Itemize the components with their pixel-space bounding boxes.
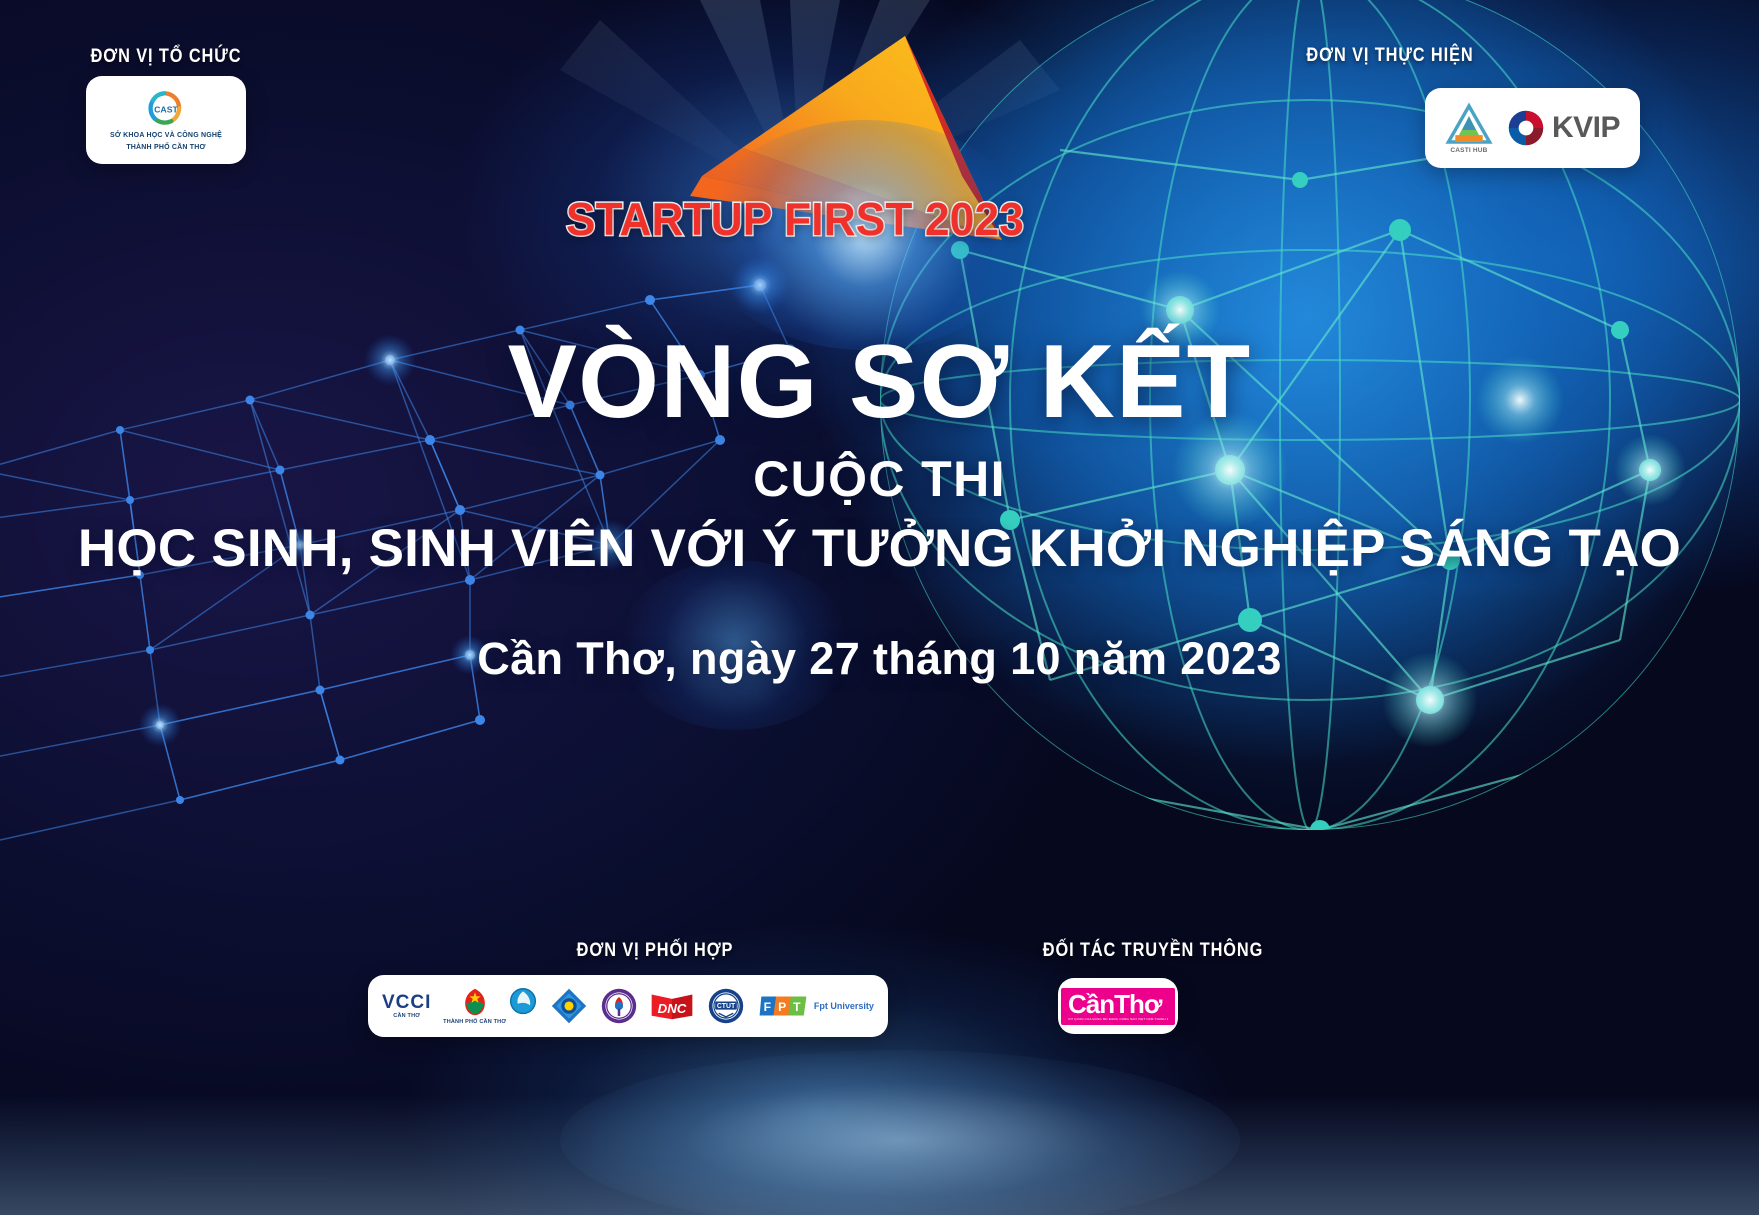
- svg-text:F: F: [764, 1000, 771, 1014]
- implementer-logo-card: CASTI HUB KVIP: [1425, 88, 1640, 168]
- doan-tncs-caption: THÀNH PHỐ CẦN THƠ: [443, 1020, 506, 1026]
- partner-logo-university-seal: [600, 987, 638, 1025]
- organizer-kicker: ĐƠN VỊ TỔ CHỨC: [63, 46, 269, 68]
- casti-hub-label: CASTI HUB: [1450, 148, 1487, 155]
- svg-text:T: T: [793, 1000, 801, 1014]
- youth-union-seal-icon: [508, 986, 538, 1018]
- kvip-logo: KVIP: [1507, 109, 1620, 147]
- subtitle-line-1: CUỘC THI: [0, 450, 1759, 508]
- partner-logo-doan-tncs: THÀNH PHỐ CẦN THƠ: [443, 986, 538, 1026]
- partners-logo-card: VCCI CẦN THƠ THÀNH PHỐ CẦN THƠ: [368, 975, 888, 1037]
- organizer-logo-card: CAST SỞ KHOA HỌC VÀ CÔNG NGHỆ THÀNH PHỐ …: [86, 76, 246, 164]
- vcci-label: VCCI: [382, 993, 431, 1012]
- svg-text:P: P: [778, 1000, 786, 1014]
- ctut-seal-icon: CTUT: [707, 987, 745, 1025]
- partner-logo-vcci: VCCI CẦN THƠ: [382, 993, 431, 1020]
- partner-logo-diamond-seal: [550, 987, 588, 1025]
- partner-logo-fpt-university: F P T Fpt University: [757, 993, 874, 1019]
- kvip-mark-icon: [1507, 109, 1545, 147]
- partner-logo-ctut: CTUT: [707, 987, 745, 1025]
- media-partner-logo-card: CầnThơ CƠ QUAN CỦA ĐẢNG BỘ ĐẢNG CỘNG SẢN…: [1058, 978, 1178, 1034]
- bao-can-tho-label: CầnThơ: [1068, 991, 1168, 1017]
- subtitle-line-2: HỌC SINH, SINH VIÊN VỚI Ý TƯỞNG KHỞI NGH…: [0, 518, 1759, 579]
- bao-can-tho-logo: CầnThơ CƠ QUAN CỦA ĐẢNG BỘ ĐẢNG CỘNG SẢN…: [1061, 988, 1175, 1025]
- casti-hub-logo: CASTI HUB: [1445, 102, 1493, 155]
- poster-canvas: ĐƠN VỊ TỔ CHỨC CAST SỞ KHOA HỌC VÀ CÔNG …: [0, 0, 1759, 1215]
- svg-text:CAST: CAST: [154, 105, 178, 115]
- implementer-kicker: ĐƠN VỊ THỰC HIỆN: [1261, 45, 1519, 67]
- casti-hub-icon: [1445, 102, 1493, 146]
- ctut-label: CTUT: [717, 1003, 736, 1010]
- partner-logo-dnc: DNC: [649, 989, 695, 1023]
- doan-tncs-flag-icon: [460, 986, 490, 1018]
- brand-lockup: STARTUP FIRST 2023: [566, 192, 1024, 246]
- headline-block: VÒNG SƠ KẾT CUỘC THI HỌC SINH, SINH VIÊN…: [0, 330, 1759, 685]
- page-title: VÒNG SƠ KẾT: [0, 330, 1759, 434]
- organizer-logo-line2: THÀNH PHỐ CẦN THƠ: [126, 143, 205, 152]
- dnc-label: DNC: [658, 1001, 687, 1016]
- organizer-logo-line1: SỞ KHOA HỌC VÀ CÔNG NGHỆ: [110, 131, 222, 140]
- dnc-book-icon: DNC: [649, 989, 695, 1023]
- cast-logo-icon: CAST: [139, 89, 193, 129]
- bao-can-tho-rule: CƠ QUAN CỦA ĐẢNG BỘ ĐẢNG CỘNG SẢN VIỆT N…: [1068, 1018, 1168, 1021]
- university-seal-icon: [600, 987, 638, 1025]
- fpt-university-caption: Fpt University: [814, 1002, 874, 1011]
- partners-kicker: ĐƠN VỊ PHỐI HỢP: [483, 940, 827, 962]
- fpt-logo-icon: F P T: [757, 993, 809, 1019]
- vcci-caption: CẦN THƠ: [393, 1014, 420, 1020]
- diamond-seal-icon: [550, 987, 588, 1025]
- event-date: Cần Thơ, ngày 27 tháng 10 năm 2023: [0, 633, 1759, 685]
- kvip-label: KVIP: [1552, 113, 1620, 143]
- media-partner-kicker: ĐỐI TÁC TRUYỀN THÔNG: [1003, 940, 1304, 962]
- floor-reflection-band: [0, 1095, 1759, 1215]
